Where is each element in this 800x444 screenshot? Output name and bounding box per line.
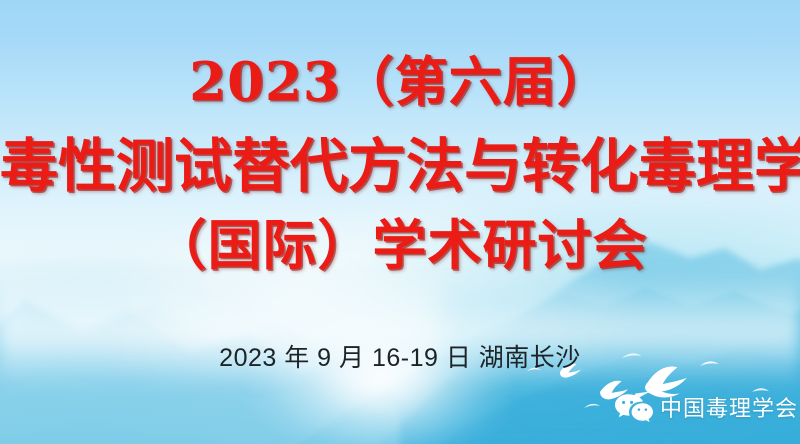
wechat-account-name: 中国毒理学会 <box>660 391 798 423</box>
title-line-year: 2023（第六届） <box>0 56 800 109</box>
title-line-main: 毒性测试替代方法与转化毒理学 <box>0 137 800 195</box>
bird-5 <box>584 404 600 408</box>
wechat-badge: 中国毒理学会 <box>614 391 798 423</box>
conference-banner: 2023（第六届） 毒性测试替代方法与转化毒理学 （国际）学术研讨会 2023 … <box>0 0 800 444</box>
title-line-subtitle: （国际）学术研讨会 <box>0 218 800 272</box>
wechat-icon <box>614 392 654 422</box>
date-location-line: 2023 年 9 月 16-19 日 湖南长沙 <box>0 338 800 374</box>
